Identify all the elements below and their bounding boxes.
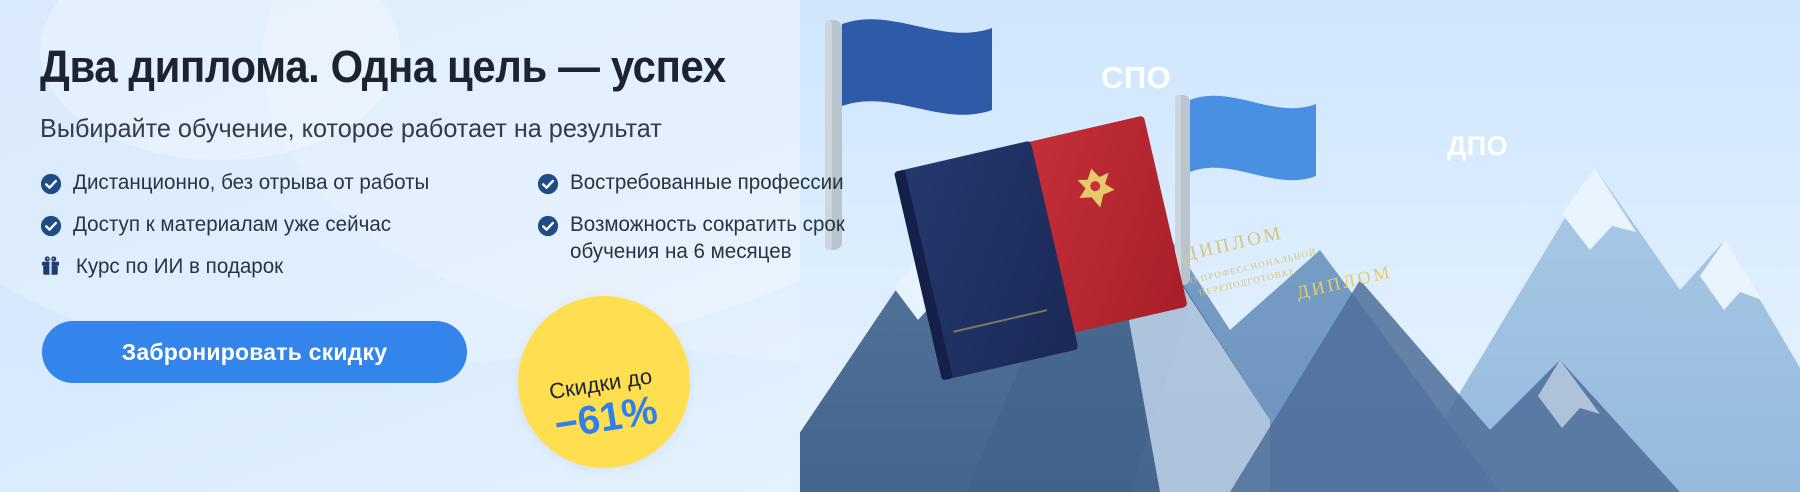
discount-badge[interactable]: Скидки до −61% <box>518 296 690 468</box>
mountain-illustration <box>800 0 1800 492</box>
benefit-item: Возможность сократить срок обучения на 6… <box>537 212 937 266</box>
benefit-item: Востребованные профессии <box>537 170 937 197</box>
benefit-label: Дистанционно, без отрыва от работы <box>73 170 429 197</box>
check-circle-icon <box>40 215 62 237</box>
check-circle-icon <box>40 173 62 195</box>
check-circle-icon <box>537 215 559 237</box>
benefits-column-left: Дистанционно, без отрыва от работы Досту… <box>40 170 510 296</box>
benefit-item: Дистанционно, без отрыва от работы <box>40 170 510 197</box>
benefit-label: Востребованные профессии <box>570 170 844 197</box>
banner-content: Два диплома. Одна цель — успех Выбирайте… <box>40 0 940 492</box>
book-discount-button[interactable]: Забронировать скидку <box>42 321 467 383</box>
promo-banner: СПО ДПО ДИПЛОМ О ПРОФЕССИОНАЛЬНОЙ ПЕРЕПО… <box>0 0 1800 492</box>
benefit-item-gift: Курс по ИИ в подарок <box>40 254 510 281</box>
gift-icon <box>40 255 61 277</box>
benefits-column-right: Востребованные профессии Возможность сок… <box>537 170 937 281</box>
benefit-label: Доступ к материалам уже сейчас <box>73 212 391 239</box>
benefit-label: Курс по ИИ в подарок <box>72 254 283 281</box>
check-circle-icon <box>537 173 559 195</box>
subheadline: Выбирайте обучение, которое работает на … <box>40 113 662 144</box>
headline: Два диплома. Одна цель — успех <box>40 41 726 93</box>
benefit-label: Возможность сократить срок обучения на 6… <box>570 212 893 266</box>
benefit-item: Доступ к материалам уже сейчас <box>40 212 510 239</box>
